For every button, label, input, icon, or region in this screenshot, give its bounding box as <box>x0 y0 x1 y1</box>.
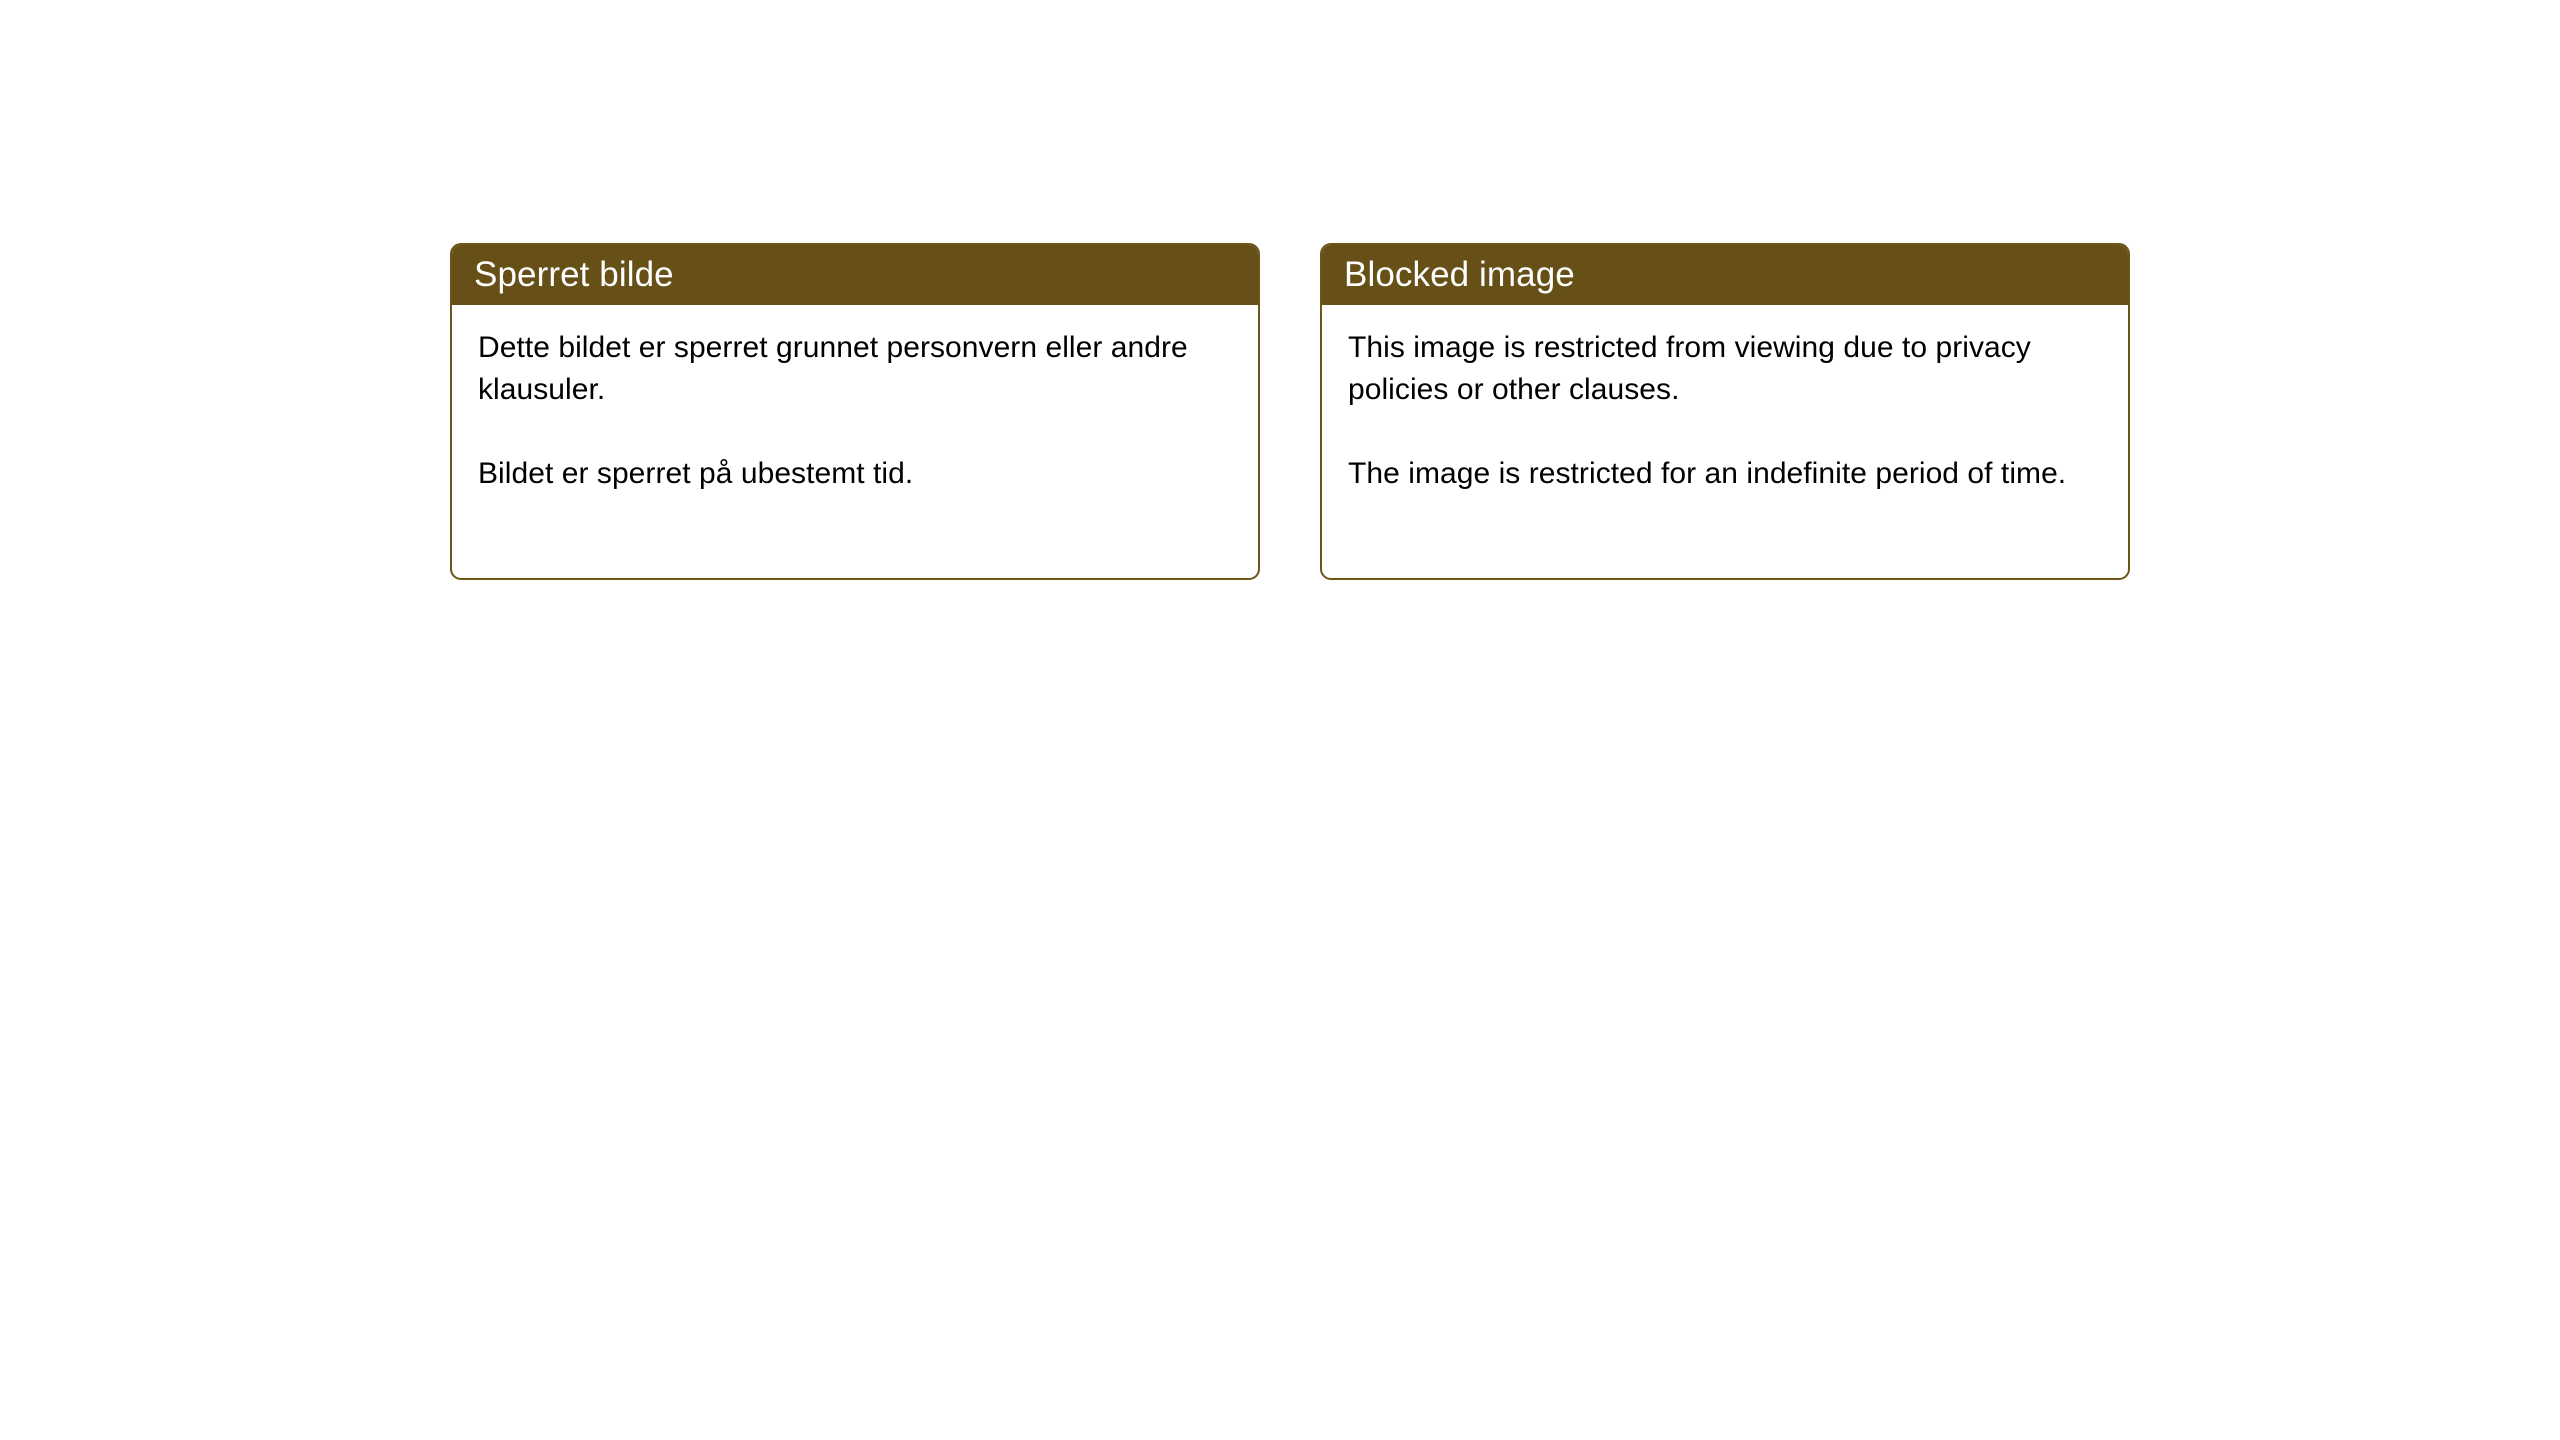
notice-title-english: Blocked image <box>1320 257 1575 292</box>
notice-header-norwegian: Sperret bilde <box>450 243 1260 305</box>
notice-header-english: Blocked image <box>1320 243 2130 305</box>
notice-body-norwegian: Dette bildet er sperret grunnet personve… <box>452 305 1258 578</box>
notice-paragraph-english-1: This image is restricted from viewing du… <box>1348 327 2102 411</box>
page-canvas: Sperret bilde Dette bildet er sperret gr… <box>0 0 2560 1440</box>
notice-paragraph-english-2: The image is restricted for an indefinit… <box>1348 453 2102 495</box>
blocked-image-notice-english: Blocked image This image is restricted f… <box>1320 243 2130 580</box>
blocked-image-notice-norwegian: Sperret bilde Dette bildet er sperret gr… <box>450 243 1260 580</box>
notice-title-norwegian: Sperret bilde <box>450 257 674 292</box>
notice-paragraph-norwegian-2: Bildet er sperret på ubestemt tid. <box>478 453 1232 495</box>
notice-body-english: This image is restricted from viewing du… <box>1322 305 2128 578</box>
notice-paragraph-norwegian-1: Dette bildet er sperret grunnet personve… <box>478 327 1232 411</box>
